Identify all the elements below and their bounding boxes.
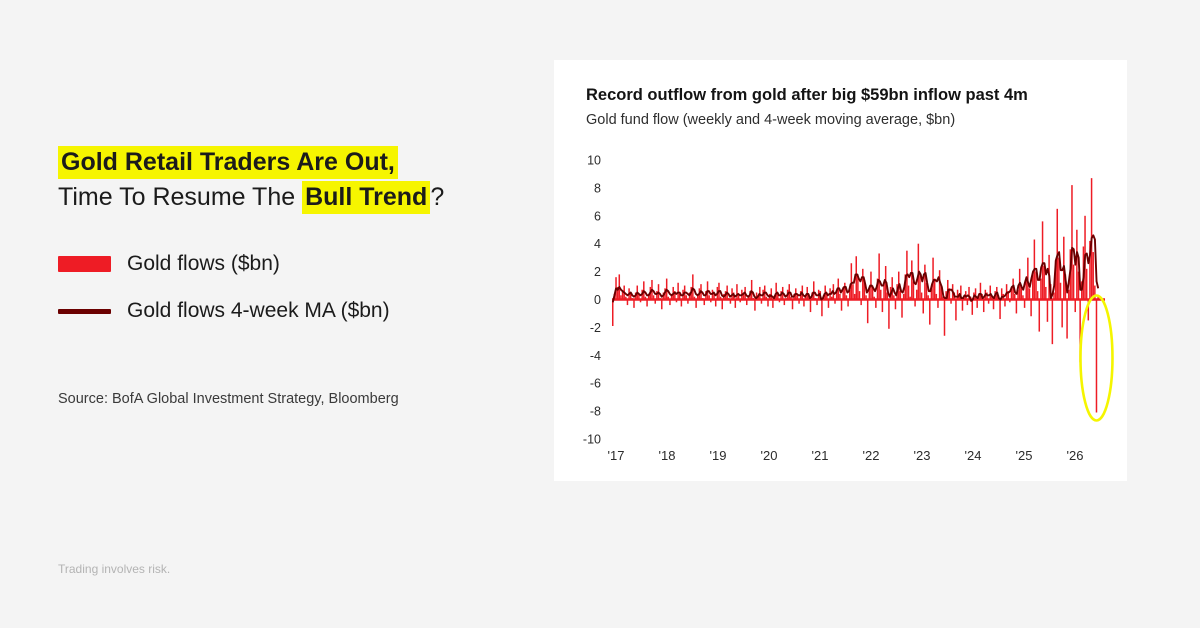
x-tick-label: '24: [965, 448, 982, 463]
chart-card: Record outflow from gold after big $59bn…: [554, 60, 1127, 481]
bar: [677, 283, 679, 300]
bar: [633, 300, 635, 308]
bar: [1086, 269, 1088, 300]
bar: [775, 283, 777, 300]
page-root: Gold Retail Traders Are Out, Time To Res…: [0, 0, 1200, 628]
bar: [751, 280, 753, 300]
y-tick-label: 10: [587, 154, 601, 168]
x-axis-ticks: '17'18'19'20'21'22'23'24'25'26: [608, 448, 1084, 463]
bar: [851, 263, 853, 299]
headline-suffix: ?: [430, 183, 444, 211]
bar: [828, 300, 830, 308]
y-tick-label: -6: [590, 377, 601, 391]
y-tick-label: -8: [590, 405, 601, 419]
bar: [1045, 287, 1047, 300]
bar: [900, 291, 902, 299]
y-tick-label: 6: [594, 209, 601, 223]
y-tick-label: 4: [594, 237, 601, 251]
bar: [882, 300, 884, 313]
bar: [661, 300, 663, 310]
bar: [695, 300, 697, 308]
y-tick-label: 0: [594, 293, 601, 307]
bar: [862, 269, 864, 300]
bar: [999, 300, 1001, 320]
bar: [1047, 300, 1049, 322]
bar: [810, 300, 812, 313]
x-tick-label: '25: [1016, 448, 1033, 463]
bar: [754, 300, 756, 311]
x-tick-label: '23: [914, 448, 931, 463]
y-tick-label: -2: [590, 321, 601, 335]
bar: [772, 300, 774, 308]
bar: [771, 288, 773, 299]
bar: [1039, 300, 1041, 332]
bar: [972, 300, 974, 315]
bar: [990, 286, 992, 300]
y-axis-ticks: 1086420-2-4-6-8-10: [583, 154, 601, 447]
bar: [852, 284, 854, 299]
bar: [792, 300, 794, 310]
bar: [993, 300, 995, 310]
legend-item-gold-flows: Gold flows ($bn): [58, 244, 528, 284]
bar: [844, 283, 846, 300]
bar: [916, 290, 918, 300]
bar: [983, 300, 985, 313]
bar: [924, 265, 926, 300]
bar: [962, 300, 964, 311]
x-tick-label: '17: [608, 448, 625, 463]
bar: [1073, 265, 1075, 300]
bar: [1066, 300, 1068, 339]
bar: [1096, 300, 1098, 413]
bar: [721, 300, 723, 310]
bar: [913, 281, 915, 299]
headline-plain-prefix: Time To Resume The: [58, 183, 302, 211]
headline-line-2: Time To Resume The Bull Trend?: [58, 180, 528, 215]
bar: [957, 290, 959, 300]
bar: [1071, 185, 1073, 299]
bar-series-gold-flows: [612, 178, 1099, 412]
x-tick-label: '20: [761, 448, 778, 463]
headline-highlight-2: Bull Trend: [302, 181, 430, 214]
bar: [888, 300, 890, 329]
bar: [944, 300, 946, 336]
bar: [1029, 288, 1031, 299]
bar: [1016, 300, 1018, 314]
legend-swatch-line-icon: [58, 309, 111, 314]
x-tick-label: '19: [710, 448, 727, 463]
headline-line-1: Gold Retail Traders Are Out,: [58, 145, 528, 180]
bar: [932, 258, 934, 300]
bar: [612, 300, 614, 327]
x-tick-label: '18: [659, 448, 676, 463]
bar: [875, 300, 877, 308]
bar: [929, 300, 931, 325]
legend-item-gold-flows-ma: Gold flows 4-week MA ($bn): [58, 291, 528, 331]
bar: [692, 274, 694, 299]
bar: [923, 300, 925, 314]
bar: [955, 300, 957, 321]
bar: [895, 300, 897, 310]
chart-plot-area: 1086420-2-4-6-8-10 '17'18'19'20'21'22'23…: [554, 60, 1127, 481]
bar: [1037, 291, 1039, 299]
bar: [813, 281, 815, 299]
bar: [821, 300, 823, 317]
x-tick-label: '26: [1067, 448, 1084, 463]
bar: [1024, 300, 1026, 308]
y-tick-label: 8: [594, 181, 601, 195]
legend-label-gold-flows-ma: Gold flows 4-week MA ($bn): [127, 299, 390, 323]
y-tick-label: -10: [583, 433, 601, 447]
chart-svg: 1086420-2-4-6-8-10 '17'18'19'20'21'22'23…: [554, 60, 1127, 481]
legend-swatch-bar-icon: [58, 256, 111, 272]
bar: [736, 284, 738, 299]
bar: [880, 290, 882, 300]
bar: [867, 300, 869, 324]
y-tick-label: -4: [590, 349, 601, 363]
source-text: Source: BofA Global Investment Strategy,…: [58, 391, 528, 407]
left-panel: Gold Retail Traders Are Out, Time To Res…: [58, 145, 528, 407]
disclaimer-text: Trading involves risk.: [58, 562, 170, 576]
legend: Gold flows ($bn) Gold flows 4-week MA ($…: [58, 244, 528, 331]
bar: [1042, 221, 1044, 299]
bar: [976, 300, 978, 308]
bar: [1030, 300, 1032, 317]
bar: [859, 291, 861, 299]
headline: Gold Retail Traders Are Out, Time To Res…: [58, 145, 528, 215]
bar: [841, 300, 843, 311]
headline-highlight-1: Gold Retail Traders Are Out,: [58, 146, 398, 179]
bar: [1040, 279, 1042, 300]
bar: [1060, 283, 1062, 300]
bar: [1074, 300, 1076, 313]
bar: [901, 300, 903, 318]
bar: [908, 286, 910, 300]
bar: [878, 253, 880, 299]
bar: [934, 279, 936, 300]
bar: [1061, 300, 1063, 328]
bar: [1052, 300, 1054, 345]
bar: [937, 300, 939, 308]
bar: [1092, 252, 1094, 299]
bar: [980, 283, 982, 300]
x-tick-label: '21: [812, 448, 829, 463]
y-tick-label: 2: [594, 265, 601, 279]
legend-label-gold-flows: Gold flows ($bn): [127, 252, 280, 276]
bar: [911, 260, 913, 299]
bar: [1076, 230, 1078, 300]
x-tick-label: '22: [863, 448, 880, 463]
bar: [735, 300, 737, 308]
